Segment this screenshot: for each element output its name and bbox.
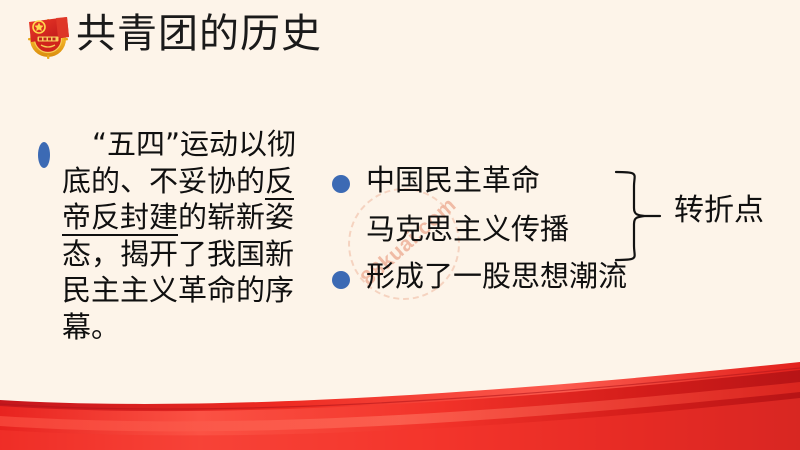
list-item: 形成了一股思想潮流 <box>332 262 632 291</box>
list-item-label: 中国民主革命 <box>366 166 569 195</box>
brace-label: 转折点 <box>674 196 764 226</box>
bottom-red-ribbon <box>0 360 800 450</box>
list-item: 中国民主革命 马克思主义传播 <box>332 166 632 244</box>
round-bullet-icon <box>332 175 350 193</box>
list-item-lines: 中国民主革命 马克思主义传播 <box>366 166 569 244</box>
list-item-label: 形成了一股思想潮流 <box>366 262 627 291</box>
page-title: 共青团的历史 <box>76 14 322 54</box>
list-item-label: 马克思主义传播 <box>366 215 569 244</box>
oval-bullet-icon <box>38 142 50 168</box>
left-content-block: “五四”运动以彻底的、不妥协的反帝反封建的崭新姿态，揭开了我国新民主主义革命的序… <box>38 126 306 345</box>
left-paragraph: “五四”运动以彻底的、不妥协的反帝反封建的崭新姿态，揭开了我国新民主主义革命的序… <box>62 126 306 345</box>
round-bullet-icon <box>332 271 350 289</box>
right-content-block: 中国民主革命 马克思主义传播 形成了一股思想潮流 <box>332 166 632 291</box>
list-item-lines: 形成了一股思想潮流 <box>366 262 627 291</box>
curly-brace-icon <box>614 170 670 262</box>
left-paragraph-part1: “五四”运动以彻底的、不妥协的 <box>62 127 296 198</box>
slide-canvas: 88kuai.com <box>0 0 800 450</box>
slide-title-row: 共青团的历史 <box>22 8 322 60</box>
communist-youth-league-emblem-icon <box>22 8 74 60</box>
